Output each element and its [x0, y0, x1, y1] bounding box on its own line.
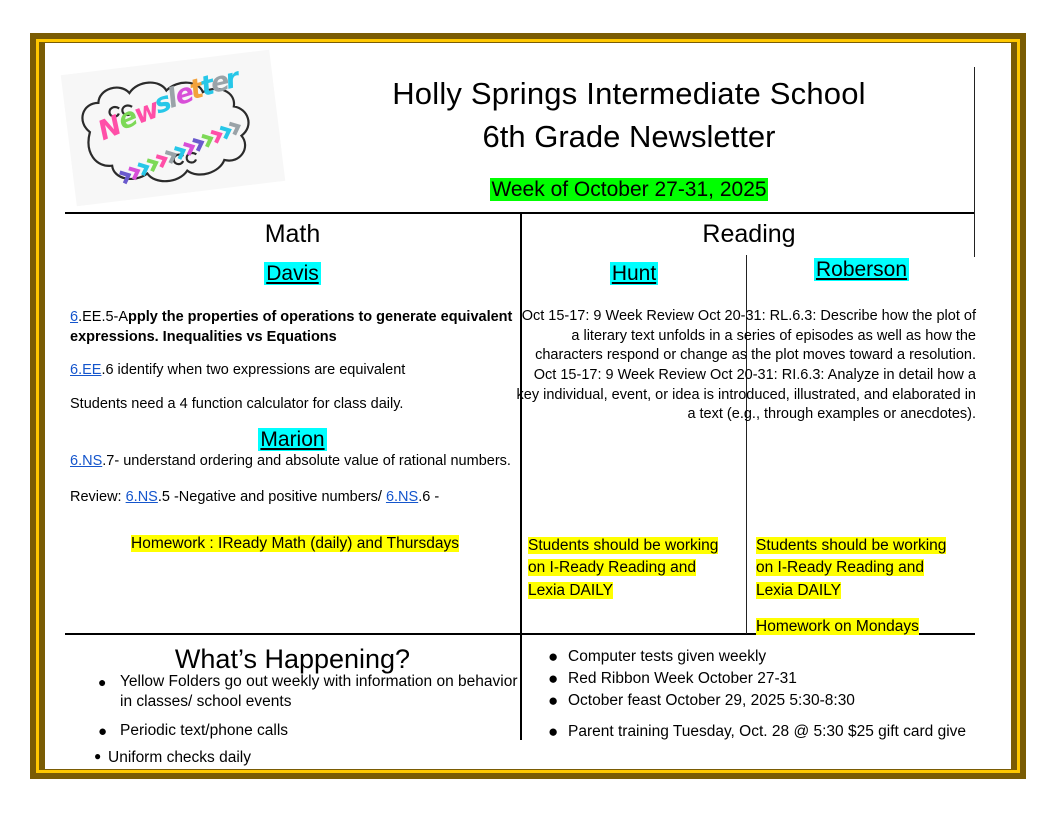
list-item-label: October feast October 29, 2025 5:30-8:30: [568, 692, 855, 709]
marion-standard-1-text: .7- understand ordering and absolute val…: [102, 453, 511, 469]
list-item: ● Uniform checks daily: [70, 748, 520, 768]
list-item: ● Red Ribbon Week October 27-31: [540, 668, 980, 690]
list-item: ● Periodic text/phone calls: [70, 721, 520, 741]
newsletter-page: N e w s l e t t e r: [0, 0, 1056, 816]
hunt-homework-badge: Students should be working on I-Ready Re…: [528, 537, 718, 599]
review-tail: .6 -: [418, 489, 439, 505]
teacher-name-davis: Davis: [65, 262, 520, 286]
whats-happening-title: What’s Happening?: [65, 644, 520, 675]
math-davis-content: 6.EE.5-Apply the properties of operation…: [70, 308, 520, 428]
standard-link-6ee[interactable]: 6.EE: [70, 362, 101, 378]
standard-1-bold: pply the properties of operations to gen…: [70, 309, 512, 345]
math-marion-content: 6.NS.7- understand ordering and absolute…: [70, 452, 520, 523]
newsletter-logo: N e w s l e t t e r: [61, 50, 286, 207]
standard-1-mid: .EE.5-A: [78, 309, 128, 325]
bullet-icon: ●: [98, 674, 106, 692]
roberson-homework-container: Students should be working on I-Ready Re…: [756, 535, 961, 639]
list-item-label: Periodic text/phone calls: [120, 722, 288, 739]
bullet-icon: ●: [98, 722, 107, 741]
school-title: Holly Springs Intermediate School: [284, 76, 974, 112]
math-homework-container: Homework : IReady Math (daily) and Thurs…: [70, 535, 520, 553]
marion-standard-1: 6.NS.7- understand ordering and absolute…: [70, 452, 520, 472]
homework-spacer: [756, 602, 961, 616]
teacher-label-marion: Marion: [258, 428, 326, 451]
teacher-name-roberson: Roberson: [748, 258, 975, 282]
whats-happening-list: ● Yellow Folders go out weekly with info…: [70, 672, 520, 770]
week-of-badge: Week of October 27-31, 2025: [490, 178, 767, 201]
grade-subtitle: 6th Grade Newsletter: [284, 119, 974, 155]
math-reading-divider: [520, 212, 522, 740]
week-of-container: Week of October 27-31, 2025: [284, 178, 974, 202]
teacher-name-hunt: Hunt: [523, 262, 745, 286]
bullet-icon: ●: [548, 645, 558, 669]
reading-standards-text: Oct 15-17: 9 Week Review Oct 20-31: RL.6…: [516, 307, 976, 425]
hunt-homework-container: Students should be working on I-Ready Re…: [528, 535, 728, 602]
list-item: ● Computer tests given weekly: [540, 646, 980, 668]
standard-link-6ns-5[interactable]: 6.NS: [126, 489, 158, 505]
math-calculator-note: Students need a 4 function calculator fo…: [70, 395, 520, 415]
math-standard-2: 6.EE.6 identify when two expressions are…: [70, 361, 520, 381]
teacher-label-hunt: Hunt: [610, 262, 658, 285]
standard-link-6[interactable]: 6: [70, 309, 78, 325]
teacher-name-marion: Marion: [65, 428, 520, 452]
math-homework-badge: Homework : IReady Math (daily) and Thurs…: [131, 535, 459, 552]
teacher-label-davis: Davis: [264, 262, 321, 285]
list-item: ● Yellow Folders go out weekly with info…: [70, 672, 520, 712]
roberson-homework-badge-2: Homework on Mondays: [756, 618, 919, 635]
list-item-label: Parent training Tuesday, Oct. 28 @ 5:30 …: [568, 723, 966, 740]
review-label: Review:: [70, 489, 126, 505]
bullet-icon: ●: [548, 667, 558, 691]
list-item: ● October feast October 29, 2025 5:30-8:…: [540, 690, 980, 712]
standard-link-6ns[interactable]: 6.NS: [70, 453, 102, 469]
teacher-label-roberson: Roberson: [814, 258, 909, 281]
review-mid: .5 -Negative and positive numbers/: [158, 489, 386, 505]
bullet-icon: ●: [548, 689, 558, 713]
column-header-math: Math: [65, 220, 520, 249]
list-item-label: Uniform checks daily: [108, 749, 251, 766]
bullet-icon: ●: [548, 720, 558, 744]
roberson-homework-badge: Students should be working on I-Ready Re…: [756, 537, 946, 599]
standard-link-6ns-6[interactable]: 6.NS: [386, 489, 418, 505]
list-item-label: Yellow Folders go out weekly with inform…: [120, 673, 517, 710]
events-list: ● Computer tests given weekly ● Red Ribb…: [540, 646, 980, 743]
list-item-label: Red Ribbon Week October 27-31: [568, 670, 797, 687]
bullet-icon: ●: [94, 749, 101, 764]
math-standard-1: 6.EE.5-Apply the properties of operation…: [70, 308, 520, 347]
column-header-reading: Reading: [523, 220, 975, 249]
standard-2-text: .6 identify when two expressions are equ…: [101, 362, 405, 378]
list-item: ● Parent training Tuesday, Oct. 28 @ 5:3…: [540, 721, 980, 743]
list-item-label: Computer tests given weekly: [568, 648, 766, 665]
marion-review: Review: 6.NS.5 -Negative and positive nu…: [70, 488, 520, 508]
